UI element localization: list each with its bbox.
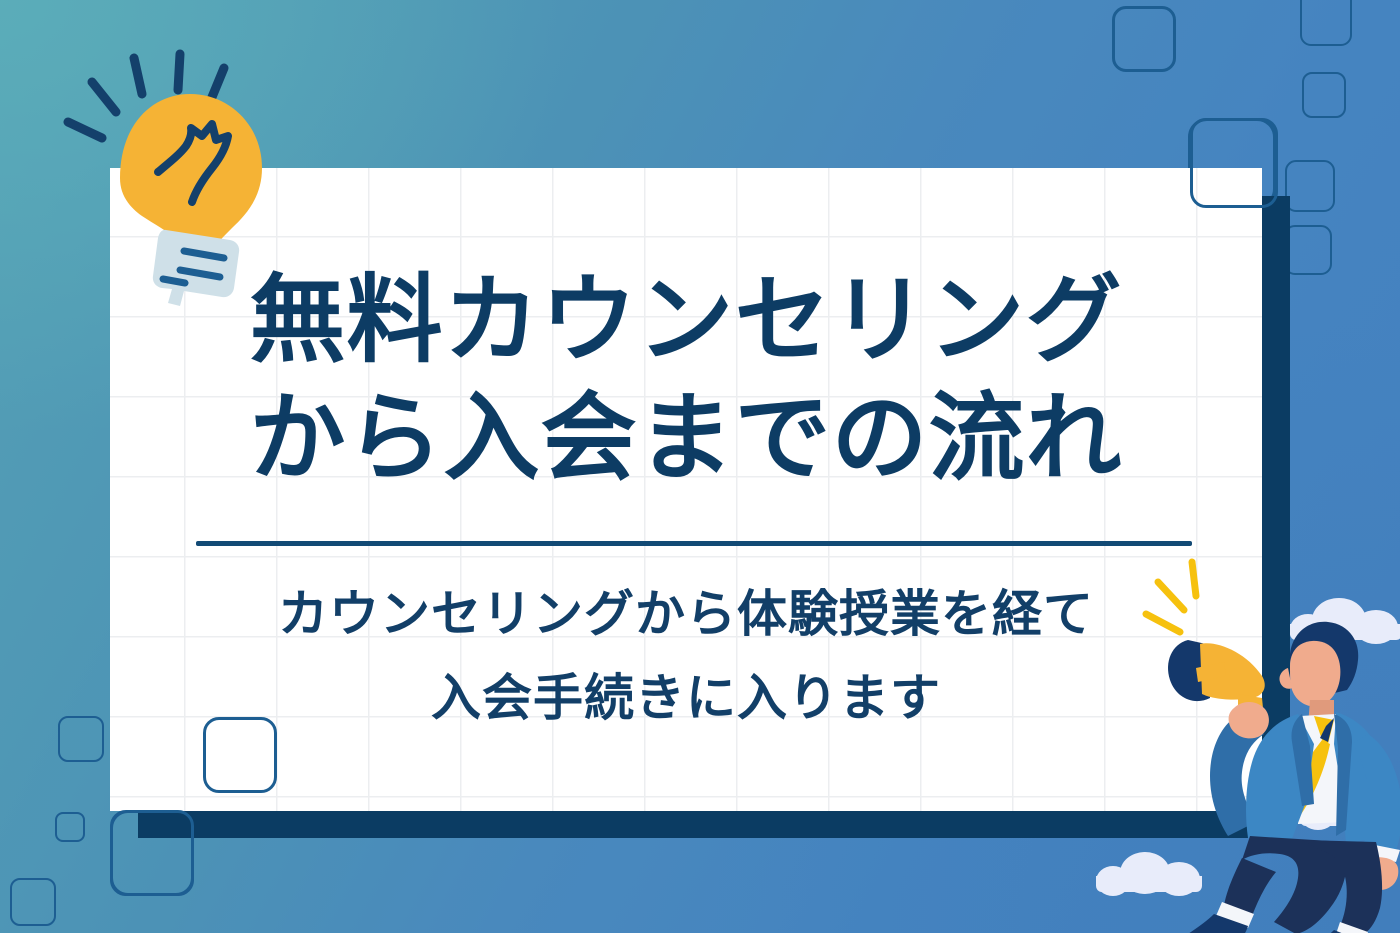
decorative-square-overlap-topright [1190, 118, 1278, 208]
lightbulb-base [153, 230, 239, 306]
decorative-square-5 [1284, 225, 1332, 275]
decorative-square-10 [55, 812, 85, 842]
page-subtitle: カウンセリングから体験授業を経て 入会手続きに入ります [110, 572, 1262, 740]
businessman-with-megaphone-illustration [1138, 548, 1400, 933]
title-divider [196, 541, 1192, 546]
decorative-square-11 [10, 878, 56, 926]
lightbulb-icon [62, 52, 292, 302]
decorative-square-overlap-bottomleft2 [110, 810, 194, 896]
decorative-square-8 [58, 716, 104, 762]
banner-image: 無料カウンセリング から入会までの流れ カウンセリングから体験授業を経て 入会手… [0, 0, 1400, 933]
person-face [1290, 641, 1340, 706]
page-subtitle-line-1: カウンセリングから体験授業を経て [110, 572, 1262, 656]
megaphone-sound-lines [1146, 562, 1196, 632]
page-subtitle-line-2: 入会手続きに入ります [110, 656, 1262, 740]
decorative-square-2 [1300, 0, 1352, 46]
decorative-square-3 [1302, 72, 1346, 118]
page-title-line-2: から入会までの流れ [110, 380, 1262, 498]
lightbulb-glass [120, 94, 262, 252]
decorative-square-0 [1112, 6, 1176, 72]
decorative-square-4 [1285, 160, 1335, 212]
